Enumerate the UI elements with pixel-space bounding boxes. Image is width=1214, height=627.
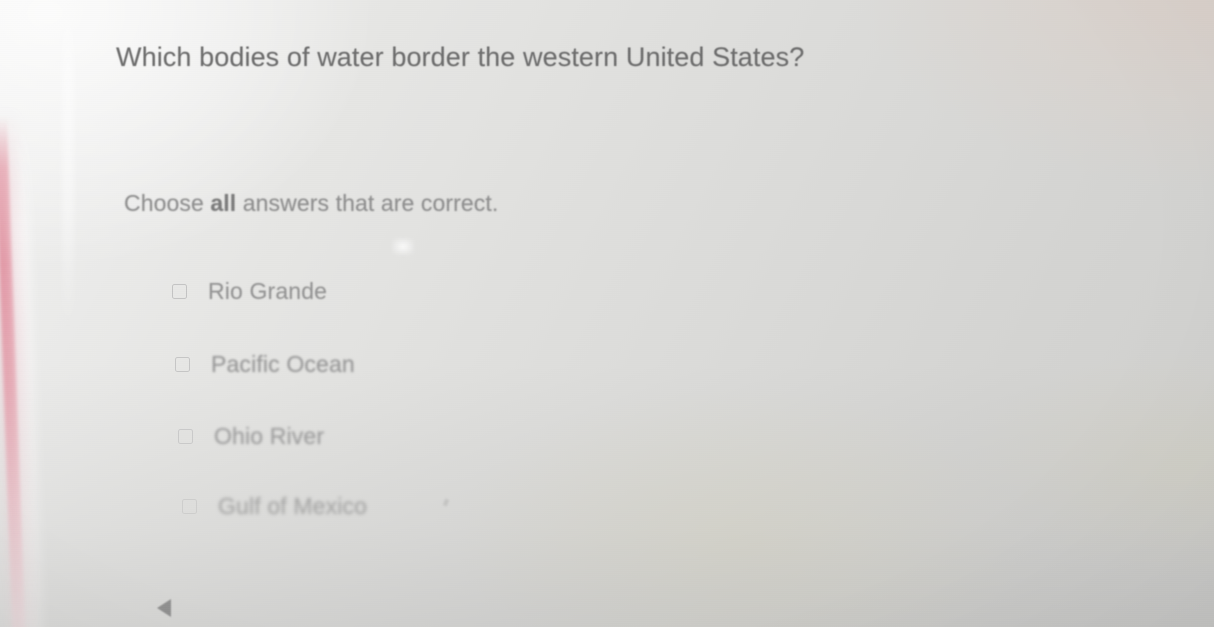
triangle-left-icon[interactable] (157, 599, 171, 617)
checkbox-unchecked-icon[interactable] (175, 357, 190, 372)
quiz-content: Which bodies of water border the western… (0, 0, 1214, 627)
answer-option-label: Pacific Ocean (211, 351, 355, 378)
checkbox-unchecked-icon[interactable] (178, 429, 193, 444)
checkbox-unchecked-icon[interactable] (182, 499, 197, 514)
answer-option-label: Gulf of Mexico (218, 493, 367, 520)
instruction-prefix: Choose (124, 190, 210, 216)
answer-option-label: Rio Grande (208, 278, 327, 305)
answer-option-ohio-river[interactable]: Ohio River (178, 423, 324, 450)
checkbox-unchecked-icon[interactable] (172, 284, 187, 299)
lens-smudge-artifact (392, 238, 414, 255)
question-instruction: Choose all answers that are correct. (124, 190, 498, 217)
instruction-suffix: answers that are correct. (236, 190, 498, 216)
answer-option-pacific-ocean[interactable]: Pacific Ocean (175, 351, 355, 378)
answer-option-gulf-of-mexico[interactable]: Gulf of Mexico (182, 493, 367, 520)
answer-option-label: Ohio River (214, 423, 324, 450)
quiz-screen-photo: Which bodies of water border the western… (0, 0, 1214, 627)
instruction-emphasis: all (210, 190, 236, 216)
stray-mark-artifact (443, 499, 449, 507)
answer-option-rio-grande[interactable]: Rio Grande (172, 278, 327, 305)
question-title: Which bodies of water border the western… (116, 42, 804, 73)
